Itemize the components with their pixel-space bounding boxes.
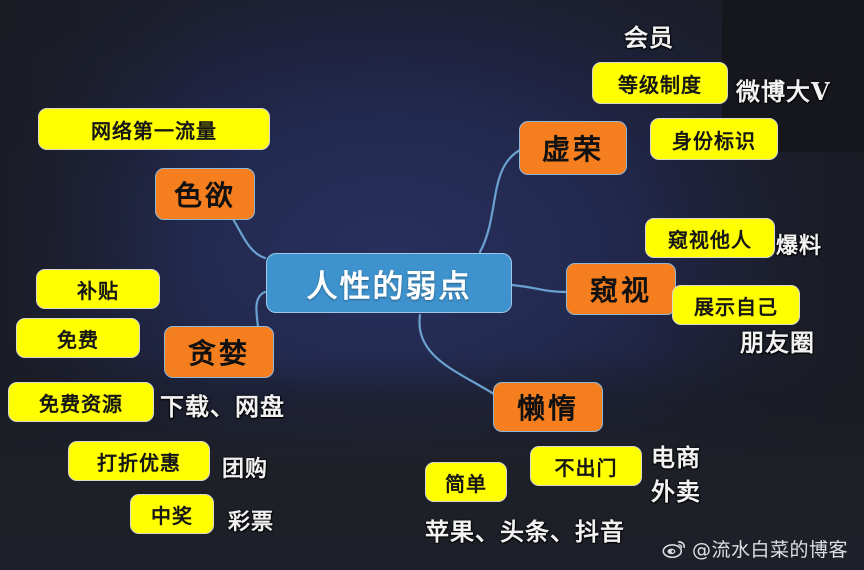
leaf-node-mianfei-label: 免费 bbox=[57, 324, 99, 353]
leaf-node-shenfenbiaoshi-label: 身份标识 bbox=[672, 125, 756, 154]
leaf-node-butie-label: 补贴 bbox=[77, 275, 119, 304]
note-dianshang: 电商 bbox=[651, 438, 701, 473]
branch-node-landuo-label: 懒惰 bbox=[517, 387, 579, 427]
leaf-node-dazheyouhui[interactable]: 打折优惠 bbox=[68, 441, 210, 481]
leaf-node-zhongjiang-label: 中奖 bbox=[151, 500, 193, 529]
leaf-node-mianfei[interactable]: 免费 bbox=[16, 318, 140, 358]
mindmap-canvas: 人性的弱点 色欲 网络第一流量 虚荣 等级制度 身份标识 会员 微博大V 窥视 … bbox=[0, 0, 864, 570]
note-xiazai-wangpan: 下载、网盘 bbox=[160, 387, 285, 422]
center-node[interactable]: 人性的弱点 bbox=[266, 253, 512, 313]
weibo-handle: @流水白菜的博客 bbox=[692, 535, 848, 562]
leaf-node-jiandan[interactable]: 简单 bbox=[425, 462, 507, 502]
leaf-node-zhongjiang[interactable]: 中奖 bbox=[130, 494, 214, 534]
branch-node-tanlan-label: 贪婪 bbox=[188, 332, 250, 372]
note-weibodav: 微博大V bbox=[736, 72, 831, 107]
leaf-node-dengjizhidu[interactable]: 等级制度 bbox=[592, 62, 728, 104]
weibo-watermark: @流水白菜的博客 bbox=[662, 535, 848, 562]
branch-node-tanlan[interactable]: 贪婪 bbox=[164, 326, 274, 378]
leaf-node-wangluodiyiliuliang-label: 网络第一流量 bbox=[91, 115, 217, 144]
weibo-logo-icon bbox=[662, 539, 686, 558]
center-node-label: 人性的弱点 bbox=[307, 261, 472, 306]
leaf-node-zhanshiziji[interactable]: 展示自己 bbox=[672, 285, 800, 325]
note-huiyuan: 会员 bbox=[624, 18, 674, 53]
leaf-node-mianfeiziyuan[interactable]: 免费资源 bbox=[8, 382, 154, 422]
leaf-node-jiandan-label: 简单 bbox=[445, 468, 487, 497]
leaf-node-zhanshiziji-label: 展示自己 bbox=[694, 291, 778, 320]
leaf-node-dazheyouhui-label: 打折优惠 bbox=[97, 447, 181, 476]
leaf-node-buchumen[interactable]: 不出门 bbox=[530, 446, 642, 486]
note-baoliao: 爆料 bbox=[776, 228, 822, 260]
leaf-node-kuishitaren[interactable]: 窥视他人 bbox=[645, 218, 775, 258]
leaf-node-shenfenbiaoshi[interactable]: 身份标识 bbox=[650, 118, 778, 160]
leaf-node-kuishitaren-label: 窥视他人 bbox=[668, 224, 752, 253]
note-caipiao: 彩票 bbox=[228, 504, 274, 536]
note-pingguo-toutiao-douyin: 苹果、头条、抖音 bbox=[425, 512, 625, 547]
note-waimai: 外卖 bbox=[651, 472, 701, 507]
branch-node-kuishi[interactable]: 窥视 bbox=[566, 263, 676, 315]
branch-node-kuishi-label: 窥视 bbox=[590, 269, 652, 309]
branch-node-xurong[interactable]: 虚荣 bbox=[519, 121, 627, 175]
branch-node-xurong-label: 虚荣 bbox=[542, 128, 604, 168]
branch-node-seyu[interactable]: 色欲 bbox=[155, 168, 255, 220]
branch-node-landuo[interactable]: 懒惰 bbox=[493, 382, 603, 432]
leaf-node-wangluodiyiliuliang[interactable]: 网络第一流量 bbox=[38, 108, 270, 150]
branch-node-seyu-label: 色欲 bbox=[174, 174, 236, 214]
leaf-node-butie[interactable]: 补贴 bbox=[36, 269, 160, 309]
note-tuangou: 团购 bbox=[222, 451, 268, 483]
note-pengyouquan: 朋友圈 bbox=[740, 323, 815, 358]
leaf-node-buchumen-label: 不出门 bbox=[555, 452, 618, 481]
leaf-node-mianfeiziyuan-label: 免费资源 bbox=[39, 388, 123, 417]
leaf-node-dengjizhidu-label: 等级制度 bbox=[618, 69, 702, 98]
